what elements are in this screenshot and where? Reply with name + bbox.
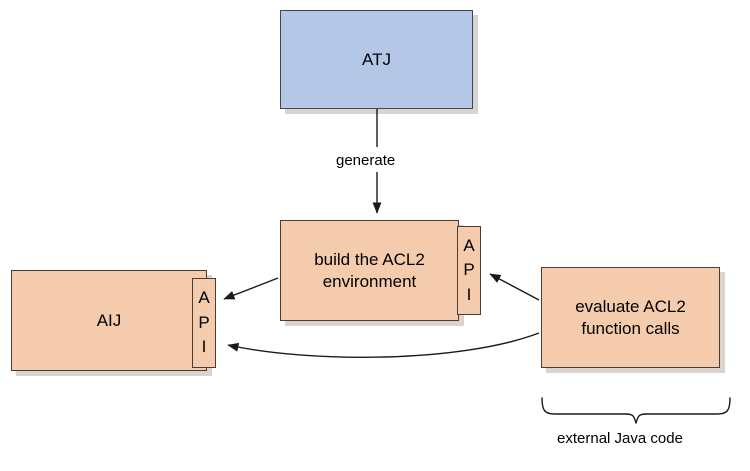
api-tab-aij-letter-a: A [198,286,209,311]
brace-label-external-java-code: external Java code [557,430,683,447]
node-evaluate-acl2-function-calls-label: evaluate ACL2 function calls [548,296,713,339]
diagram-canvas: ATJ build the ACL2 environment AIJ evalu… [0,0,750,471]
edge-eval-to-aij-api [228,333,539,357]
api-tab-aij-letter-i: I [202,335,207,360]
api-tab-build-letter-i: I [467,283,472,308]
node-atj[interactable]: ATJ [280,10,473,109]
node-atj-label: ATJ [362,49,391,70]
api-tab-build[interactable]: A P I [457,226,481,315]
api-tab-build-letter-p: P [463,258,474,283]
edge-build-to-aij-api [224,278,278,299]
node-evaluate-acl2-function-calls[interactable]: evaluate ACL2 function calls [541,267,720,368]
api-tab-aij-letter-p: P [198,311,209,336]
node-aij-label: AIJ [97,310,122,331]
api-tab-build-letter-a: A [463,234,474,259]
edge-label-generate: generate [336,152,395,169]
node-build-acl2-environment[interactable]: build the ACL2 environment [280,220,459,321]
edge-eval-to-build-api [490,274,539,300]
brace-external-java-code [542,398,730,423]
api-tab-aij[interactable]: A P I [192,278,216,368]
node-build-acl2-environment-label: build the ACL2 environment [289,249,450,292]
node-aij[interactable]: AIJ [11,270,207,371]
